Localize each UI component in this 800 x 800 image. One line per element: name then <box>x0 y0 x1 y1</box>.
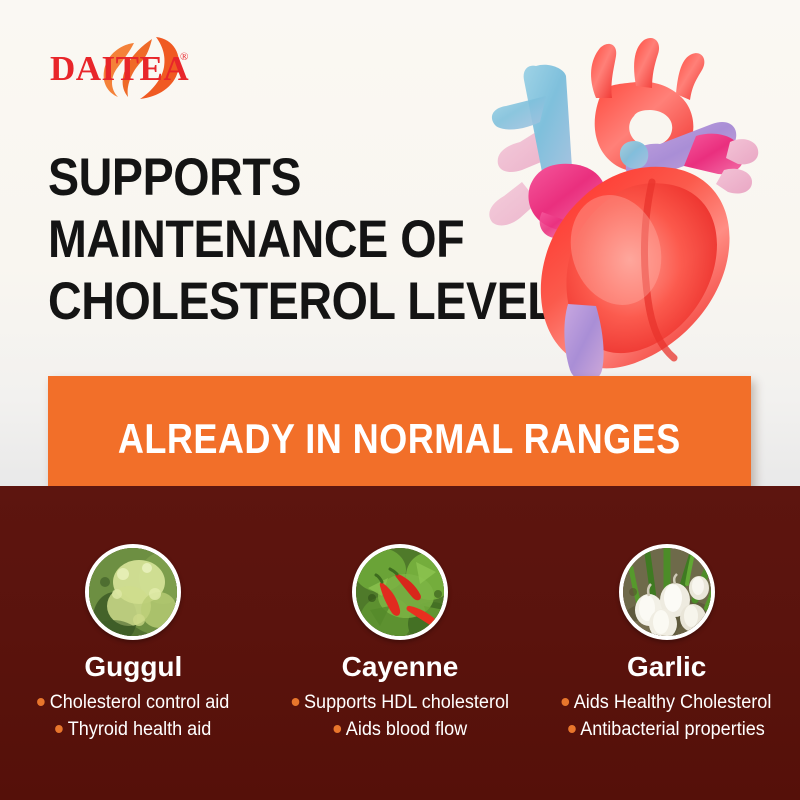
ingredients-section: Guggul Cholesterol control aid Thyroid h… <box>0 486 800 800</box>
brand-logo: DAITEA ® <box>48 33 228 109</box>
garlic-bulbs-icon <box>619 544 715 640</box>
infographic-poster: DAITEA ® SUPPORTS MAINTENANCE OF CHOLEST… <box>0 0 800 800</box>
benefit-text: Thyroid health aid <box>68 719 211 740</box>
bullet-dot-icon <box>562 698 570 706</box>
bullet-dot-icon <box>291 698 299 706</box>
benefit-item: Cholesterol control aid <box>7 689 260 716</box>
inferior-vena-cava <box>564 304 603 382</box>
benefit-text: Cholesterol control aid <box>50 692 230 713</box>
benefit-item: Supports HDL cholesterol <box>273 689 526 716</box>
page-title: SUPPORTS MAINTENANCE OF CHOLESTEROL LEVE… <box>48 147 506 333</box>
bullet-dot-icon <box>55 725 63 733</box>
ingredient-card-cayenne: Cayenne Supports HDL cholesterol Aids bl… <box>267 486 534 800</box>
ingredient-name: Guggul <box>84 652 182 681</box>
benefit-text: Antibacterial properties <box>581 719 766 740</box>
banner-text: ALREADY IN NORMAL RANGES <box>118 415 681 463</box>
anatomical-heart-icon <box>484 14 800 386</box>
bullet-dot-icon <box>568 725 576 733</box>
benefit-item: Aids blood flow <box>273 716 526 743</box>
brand-wordmark: DAITEA <box>50 51 189 86</box>
headline-line-1: SUPPORTS <box>48 147 506 209</box>
benefit-item: Antibacterial properties <box>540 716 793 743</box>
ingredient-benefits: Aids Healthy Cholesterol Antibacterial p… <box>533 689 800 743</box>
highlight-banner: ALREADY IN NORMAL RANGES <box>48 376 751 502</box>
ingredient-benefits: Cholesterol control aid Thyroid health a… <box>0 689 267 743</box>
benefit-text: Supports HDL cholesterol <box>304 692 509 713</box>
headline-line-3: CHOLESTEROL LEVELS <box>48 271 506 333</box>
guggul-plant-icon <box>85 544 181 640</box>
ingredient-columns: Guggul Cholesterol control aid Thyroid h… <box>0 486 800 800</box>
benefit-text: Aids Healthy Cholesterol <box>574 692 772 713</box>
cayenne-pepper-icon <box>352 544 448 640</box>
bullet-dot-icon <box>333 725 341 733</box>
ingredient-benefits: Supports HDL cholesterol Aids blood flow <box>267 689 534 743</box>
ingredient-card-guggul: Guggul Cholesterol control aid Thyroid h… <box>0 486 267 800</box>
registered-trademark-mark: ® <box>180 51 188 63</box>
benefit-text: Aids blood flow <box>345 719 466 740</box>
ingredient-card-garlic: Garlic Aids Healthy Cholesterol Antibact… <box>533 486 800 800</box>
benefit-item: Aids Healthy Cholesterol <box>540 689 793 716</box>
top-section: DAITEA ® SUPPORTS MAINTENANCE OF CHOLEST… <box>0 0 800 486</box>
benefit-item: Thyroid health aid <box>7 716 260 743</box>
bullet-dot-icon <box>37 698 45 706</box>
ingredient-name: Cayenne <box>342 652 459 681</box>
ingredient-name: Garlic <box>627 652 706 681</box>
headline-line-2: MAINTENANCE OF <box>48 209 506 271</box>
